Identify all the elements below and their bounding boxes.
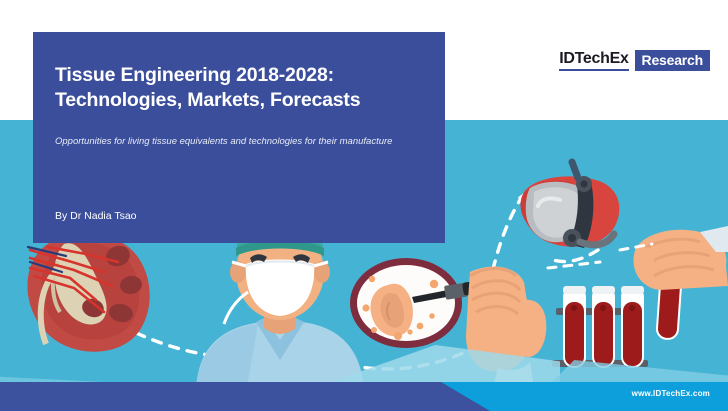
author-byline: By Dr Nadia Tsao bbox=[55, 210, 137, 222]
page-title: Tissue Engineering 2018-2028: Technologi… bbox=[55, 63, 427, 113]
idtechex-logo[interactable]: IDTechEx Research bbox=[559, 50, 710, 71]
logo-brand-text: IDTechEx bbox=[559, 50, 628, 71]
page-subtitle: Opportunities for living tissue equivale… bbox=[55, 135, 407, 149]
title-panel: Tissue Engineering 2018-2028: Technologi… bbox=[33, 32, 445, 243]
footer-website-url[interactable]: www.IDTechEx.com bbox=[632, 389, 710, 398]
logo-research-badge: Research bbox=[635, 50, 710, 71]
report-cover-slide: IDTechEx Research Tissue Engineering 201… bbox=[0, 0, 728, 411]
footer-bar-navy bbox=[0, 382, 490, 411]
